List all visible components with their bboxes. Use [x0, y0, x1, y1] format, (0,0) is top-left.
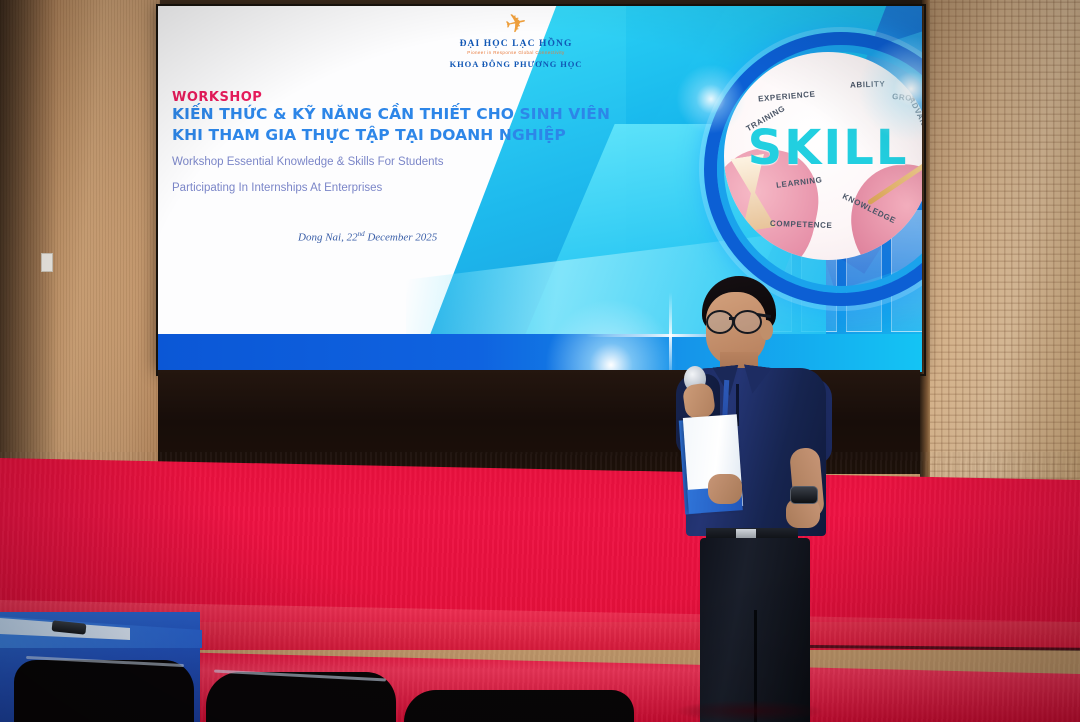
- auditorium-chair: [404, 690, 634, 722]
- speaker-floor-shadow: [674, 700, 824, 722]
- university-logo: ✈ ĐẠI HỌC LẠC HỒNG Pioneer in Response G…: [426, 10, 606, 69]
- slide-subtitle-line-1: Workshop Essential Knowledge & Skills Fo…: [172, 156, 443, 168]
- logo-tagline: Pioneer in Response Global Connectivity: [426, 50, 606, 55]
- keyword-ability: ABILITY: [850, 79, 886, 89]
- glasses-icon: [706, 310, 734, 334]
- right-acoustic-panel-wall: [920, 0, 1080, 500]
- date-ordinal: nd: [358, 230, 365, 238]
- auditorium-chair: [14, 660, 194, 722]
- light-switch-plate[interactable]: [41, 253, 53, 272]
- logo-faculty-name: KHOA ĐÔNG PHƯƠNG HỌC: [426, 59, 606, 69]
- slide-title-line-2: KHI THAM GIA THỰC TẬP TẠI DOANH NGHIỆP: [172, 126, 566, 144]
- slide-date-location: Dong Nai, 22nd December 2025: [298, 230, 437, 244]
- logo-university-name: ĐẠI HỌC LẠC HỒNG: [426, 39, 606, 49]
- slide-kicker: WORKSHOP: [172, 90, 262, 105]
- date-suffix: December 2025: [365, 232, 438, 244]
- skill-center-word: SKILL: [748, 120, 909, 176]
- speaker-hand-holding-folder: [708, 474, 742, 504]
- conference-photo-scene: SKILL EXPERIENCE ABILITY GROWTH TRAINING…: [0, 0, 1080, 722]
- slide-bottom-blue-band: [156, 334, 922, 372]
- glasses-bridge: [729, 317, 735, 320]
- wristwatch-icon: [790, 486, 818, 504]
- left-wall-shadow: [0, 0, 58, 470]
- stage-red-carpet: [0, 452, 1080, 622]
- slide-subtitle-line-2: Participating In Internships At Enterpri…: [172, 182, 382, 194]
- flare-streak-vertical: [669, 292, 672, 372]
- date-prefix: Dong Nai, 22: [298, 232, 358, 244]
- keyword-experience: EXPERIENCE: [758, 90, 816, 104]
- speaker-hand-holding-microphone: [682, 382, 716, 420]
- magnifier-lens: SKILL EXPERIENCE ABILITY GROWTH TRAINING…: [724, 52, 922, 260]
- led-presentation-screen: SKILL EXPERIENCE ABILITY GROWTH TRAINING…: [156, 4, 922, 372]
- slide-title-line-1: KIẾN THỨC & KỸ NĂNG CẦN THIẾT CHO SINH V…: [172, 105, 610, 123]
- airplane-icon: ✈: [503, 8, 530, 38]
